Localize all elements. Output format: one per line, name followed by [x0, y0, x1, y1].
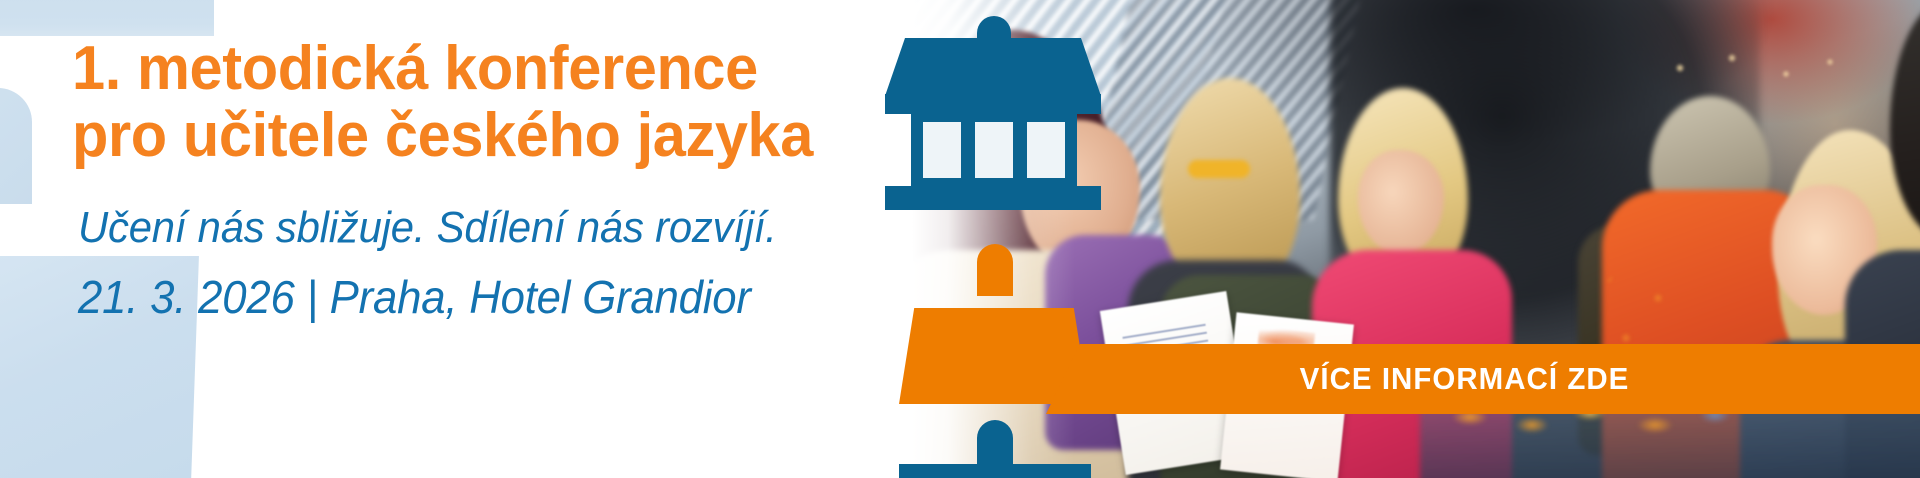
conference-promo-banner: 1. metodická konference pro učitele česk…: [0, 0, 1920, 478]
lighthouse-window-1: [923, 122, 961, 178]
decorative-arch-left: [0, 88, 32, 204]
lighthouse-window-3: [1027, 122, 1065, 178]
lighthouse-upper-arch-window: [977, 244, 1013, 296]
more-information-button-label: VÍCE INFORMACÍ ZDE: [1300, 361, 1630, 397]
banner-datetime-location: 21. 3. 2026 | Praha, Hotel Grandior: [78, 272, 851, 323]
headline-line-1: 1. metodická konference: [72, 34, 758, 103]
lighthouse-window-2: [975, 122, 1013, 178]
decorative-bar-top: [0, 0, 214, 36]
lighthouse-base: [899, 464, 1091, 478]
banner-text-block: 1. metodická konference pro učitele česk…: [72, 36, 892, 323]
more-information-button[interactable]: VÍCE INFORMACÍ ZDE: [1046, 344, 1920, 414]
lighthouse-lower-arch-window: [977, 420, 1013, 470]
lighthouse-lantern-room: [911, 112, 1077, 188]
page-title: 1. metodická konference pro učitele česk…: [72, 36, 859, 170]
headline-line-2: pro učitele českého jazyka: [72, 103, 859, 170]
banner-subtitle: Učení nás sbližuje. Sdílení nás rozvíjí.: [78, 204, 851, 252]
lighthouse-gallery: [885, 186, 1101, 210]
lighthouse-eave: [885, 94, 1101, 114]
lighthouse-roof: [885, 38, 1101, 96]
